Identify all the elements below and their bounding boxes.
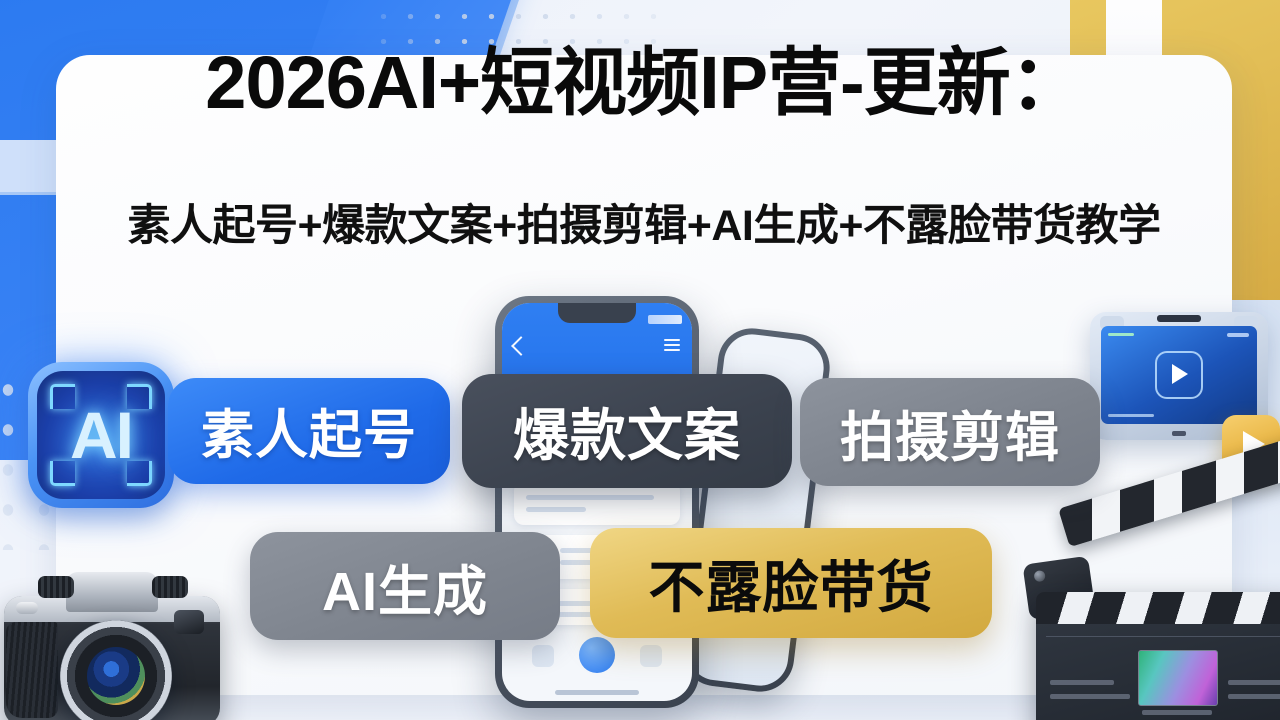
- camera-grip: [6, 622, 58, 718]
- clapperboard-stripes: [1036, 592, 1280, 624]
- play-button-icon: [1155, 351, 1203, 399]
- tablet-screen: [1101, 326, 1257, 424]
- tablet-rec-indicator-icon: [1108, 333, 1134, 336]
- phone-tab-icon: [640, 645, 662, 667]
- tablet-timecode-icon: [1108, 414, 1154, 417]
- phone-menu-icon: [664, 339, 680, 351]
- clapperboard-fields: [1046, 636, 1280, 720]
- ai-badge-label: AI: [37, 371, 165, 499]
- ai-logo-inner: AI: [37, 371, 165, 499]
- camera-lens: [60, 620, 172, 720]
- smartphone-mockup-icon: [495, 296, 699, 708]
- clapperboard-slate: [1036, 592, 1280, 720]
- phone-screen-front: [502, 303, 692, 701]
- phone-tab-icon: [532, 645, 554, 667]
- phone-home-indicator: [555, 690, 639, 695]
- tablet-top-nub: [1157, 315, 1201, 322]
- feature-pill-su-ren-qi-hao[interactable]: 素人起号: [168, 378, 450, 484]
- phone-tab-bar: [502, 637, 692, 683]
- feature-pill-ai-sheng-cheng[interactable]: AI生成: [250, 532, 560, 640]
- clapperboard-color-chart: [1138, 650, 1218, 706]
- page-subtitle: 素人起号+爆款文案+拍摄剪辑+AI生成+不露脸带货教学: [56, 205, 1232, 248]
- phone-text-line: [526, 495, 654, 500]
- tablet-battery-icon: [1227, 333, 1249, 337]
- feature-pill-pai-she-jian-ji[interactable]: 拍摄剪辑: [800, 378, 1100, 486]
- camera-prism: [66, 572, 158, 612]
- phone-statusbar-icon: [648, 315, 682, 324]
- camera-dial-left: [38, 576, 74, 598]
- phone-notch-icon: [558, 303, 636, 323]
- camera-lens-glass: [87, 647, 145, 705]
- phone-text-line: [526, 507, 586, 512]
- feature-pill-bu-lu-lian-dai-huo[interactable]: 不露脸带货: [590, 528, 992, 638]
- camera-shutter-button: [16, 602, 38, 614]
- ai-logo-icon: AI: [28, 362, 174, 508]
- camera-viewfinder: [174, 610, 204, 634]
- poster-canvas: 2026AI+短视频IP营-更新： 素人起号+爆款文案+拍摄剪辑+AI生成+不露…: [0, 0, 1280, 720]
- page-title: 2026AI+短视频IP营-更新：: [56, 46, 1232, 120]
- tablet-foot: [1172, 431, 1186, 436]
- feature-pill-bao-kuan-wen-an[interactable]: 爆款文案: [462, 374, 792, 488]
- phone-record-button-icon: [579, 637, 615, 673]
- camera-dial-right: [152, 576, 188, 598]
- dslr-camera-icon: [0, 556, 232, 720]
- film-clapperboard-icon: [1008, 500, 1280, 720]
- phone-back-chevron-icon: [511, 336, 531, 356]
